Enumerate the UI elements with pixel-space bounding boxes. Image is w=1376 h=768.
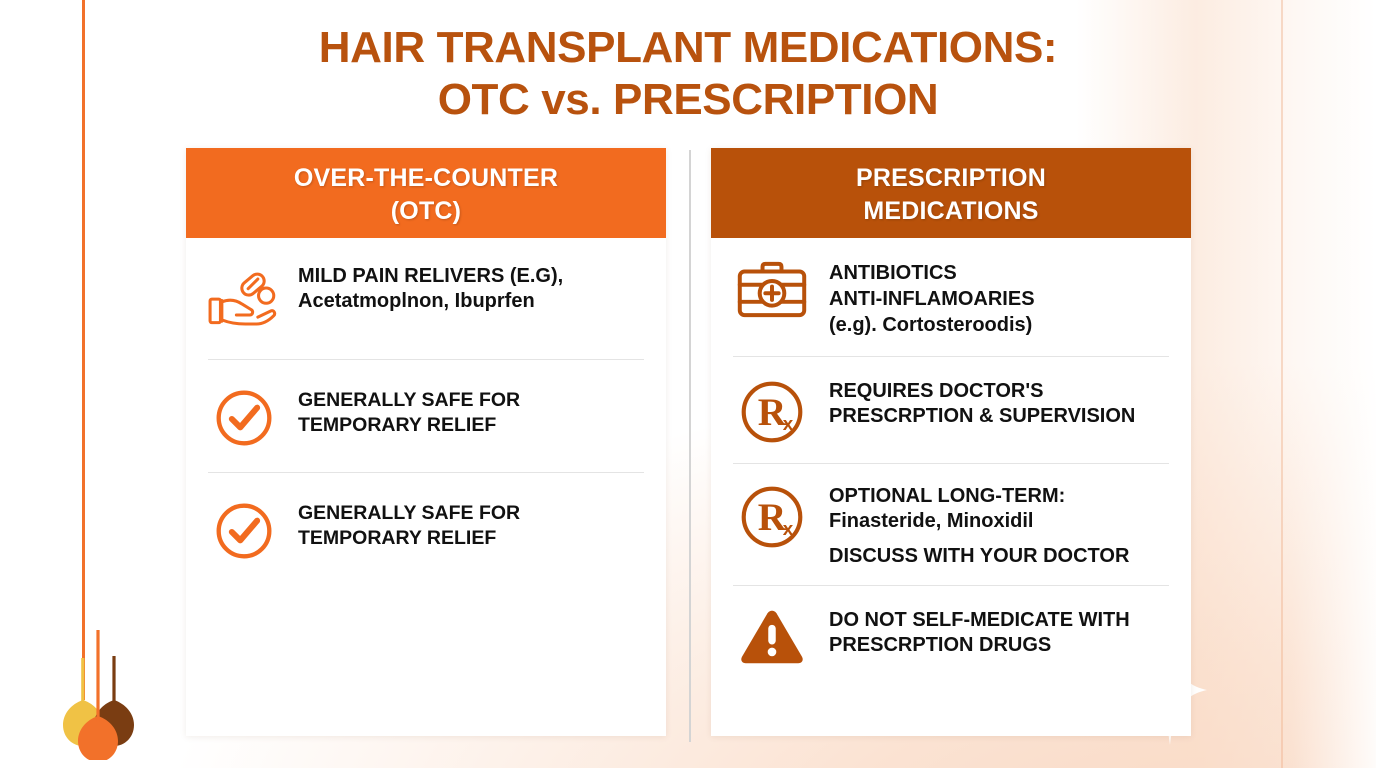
list-item: ANTIBIOTICS ANTI-INFLAMOARIES (e.g). Cor… bbox=[733, 238, 1169, 356]
list-item-text: DO NOT SELF-MEDICATE WITH PRESCRPTION DR… bbox=[829, 606, 1169, 658]
otc-header-line-2: (OTC) bbox=[196, 195, 656, 228]
list-item-line: ANTIBIOTICS bbox=[829, 260, 1169, 286]
list-item: GENERALLY SAFE FOR TEMPORARY RELIEF bbox=[208, 472, 644, 585]
list-item: GENERALLY SAFE FOR TEMPORARY RELIEF bbox=[208, 359, 644, 472]
list-item-text: MILD PAIN RELIVERS (e.g), Acetatmoplnon,… bbox=[298, 262, 644, 314]
check-circle-icon bbox=[208, 386, 280, 448]
list-item-line: DISCUSS WITH YOUR DOCTOR bbox=[829, 544, 1169, 569]
list-item-line: DO NOT SELF-MEDICATE WITH bbox=[829, 608, 1169, 633]
list-item: R x OPTIONAL LONG-TERM: Finasteride, Min… bbox=[733, 463, 1169, 585]
check-circle-icon bbox=[208, 499, 280, 561]
list-item-line: TEMPORARY RELIEF bbox=[298, 526, 644, 551]
title-line-1: HAIR TRANSPLANT MEDICATIONS: bbox=[0, 22, 1376, 74]
title-line-2-prescription: PRESCRIPTION bbox=[601, 75, 938, 124]
list-item: DO NOT SELF-MEDICATE WITH PRESCRPTION DR… bbox=[733, 585, 1169, 684]
list-item-line: TEMPORARY RELIEF bbox=[298, 413, 644, 438]
list-item-line: (e.g). Cortosteroodis) bbox=[829, 312, 1169, 338]
warning-triangle-icon bbox=[733, 606, 811, 666]
list-item-line: REQUIRES DOCTOR'S bbox=[829, 379, 1169, 404]
svg-text:x: x bbox=[783, 413, 794, 434]
list-item-line: PRESCRPTION DRUGS bbox=[829, 633, 1169, 658]
title-line-2-otc: OTC bbox=[438, 75, 542, 124]
rx-circle-icon: R x bbox=[733, 377, 811, 445]
otc-header-line-1: OVER-THE-COUNTER bbox=[196, 162, 656, 195]
rx-circle-icon: R x bbox=[733, 482, 811, 550]
comparison-columns: OVER-THE-COUNTER (OTC) bbox=[0, 148, 1376, 748]
list-item-line: OPTIONAL LONG-TERM: bbox=[829, 484, 1169, 509]
otc-card: OVER-THE-COUNTER (OTC) bbox=[186, 148, 666, 736]
list-item-text: GENERALLY SAFE FOR TEMPORARY RELIEF bbox=[298, 499, 644, 551]
hand-holding-pills-icon bbox=[208, 262, 280, 337]
page-title: HAIR TRANSPLANT MEDICATIONS: OTC vs. PRE… bbox=[0, 22, 1376, 126]
list-item-text: GENERALLY SAFE FOR TEMPORARY RELIEF bbox=[298, 386, 644, 438]
svg-text:x: x bbox=[783, 518, 794, 539]
list-item-text: OPTIONAL LONG-TERM: Finasteride, Minoxid… bbox=[829, 482, 1169, 569]
column-divider bbox=[689, 150, 691, 742]
list-item-text: REQUIRES DOCTOR'S PRESCRPTION & SUPERVIS… bbox=[829, 377, 1169, 429]
medical-bag-icon bbox=[733, 258, 811, 319]
otc-card-body: MILD PAIN RELIVERS (e.g), Acetatmoplnon,… bbox=[186, 238, 666, 585]
prescription-card-header: PRESCRIPTION MEDICATIONS bbox=[711, 148, 1191, 238]
list-item-line: PRESCRPTION & SUPERVISION bbox=[829, 404, 1169, 429]
list-item-line: GENERALLY SAFE FOR bbox=[298, 501, 644, 526]
list-item-line: Finasteride, Minoxidil bbox=[829, 509, 1169, 534]
prescription-header-line-1: PRESCRIPTION bbox=[721, 162, 1181, 195]
title-line-2: OTC vs. PRESCRIPTION bbox=[0, 74, 1376, 126]
prescription-header-line-2: MEDICATIONS bbox=[721, 195, 1181, 228]
list-item: MILD PAIN RELIVERS (e.g), Acetatmoplnon,… bbox=[208, 238, 644, 359]
list-item: R x REQUIRES DOCTOR'S PRESCRPTION & SUPE… bbox=[733, 356, 1169, 463]
list-item-line: MILD PAIN RELIVERS (e.g), bbox=[298, 264, 644, 289]
prescription-card: PRESCRIPTION MEDICATIONS bbox=[711, 148, 1191, 736]
prescription-card-body: ANTIBIOTICS ANTI-INFLAMOARIES (e.g). Cor… bbox=[711, 238, 1191, 684]
list-item-line: GENERALLY SAFE FOR bbox=[298, 388, 644, 413]
otc-card-header: OVER-THE-COUNTER (OTC) bbox=[186, 148, 666, 238]
title-line-2-vs: vs. bbox=[541, 75, 601, 124]
list-item-text: ANTIBIOTICS ANTI-INFLAMOARIES (e.g). Cor… bbox=[829, 258, 1169, 338]
list-item-line: Acetatmoplnon, Ibuprfen bbox=[298, 289, 644, 314]
list-item-line: ANTI-INFLAMOARIES bbox=[829, 286, 1169, 312]
